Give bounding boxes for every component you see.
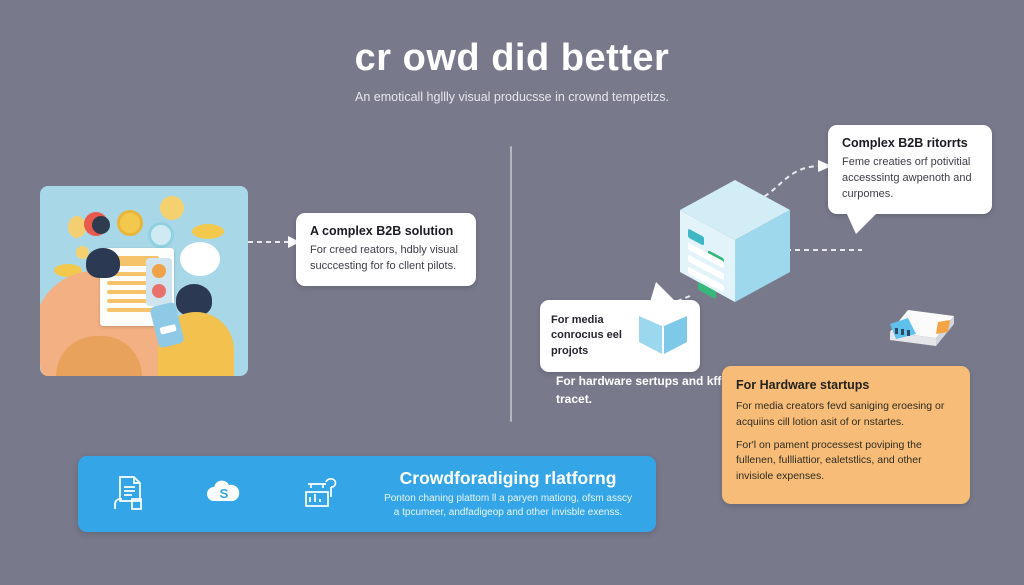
bar-chart-factory-icon — [302, 474, 338, 515]
banner-line-2: a tpcumeer, andfadigeop and other invisb… — [384, 506, 632, 521]
crowdfunding-illustration — [40, 186, 248, 376]
card-hardware-body-2: For'l on pament processest poviping the … — [736, 438, 956, 485]
card-media-body: For media conrocıus eel projots — [551, 313, 631, 360]
isometric-hardware-chip-icon — [886, 308, 958, 350]
page-header: cr owd did better An emoticall hgllly vi… — [0, 38, 1024, 104]
connector-illustration-to-b2b — [248, 230, 302, 254]
banner-icon-group: S — [94, 473, 338, 516]
coin-icon — [117, 210, 143, 236]
coin-icon — [148, 222, 174, 248]
card-hardware-body-1: For media creators fevd saniging eroesin… — [736, 399, 956, 431]
card-complex-reports[interactable]: Complex B2B ritorrts Feme creaties orf p… — [828, 125, 992, 214]
crowdfunding-banner[interactable]: S Crowdforadiging rlatforng Ponton chani… — [78, 456, 656, 532]
svg-text:S: S — [220, 486, 229, 501]
connector-server-to-hardware — [786, 236, 866, 266]
open-book-icon — [637, 310, 689, 363]
card-complex-title: Complex B2B ritorrts — [842, 136, 978, 150]
card-complex-body: Feme creaties orf potivitial accesssintg… — [842, 155, 978, 203]
banner-heading: Crowdforadiging rlatforng — [384, 468, 632, 489]
coin-icon — [192, 224, 224, 239]
app-card-icon — [146, 258, 172, 306]
card-media[interactable]: For media conrocıus eel projots — [540, 300, 700, 372]
banner-line-1: Ponton chaning plattom ll a paryen matio… — [384, 492, 632, 507]
card-hardware-startups[interactable]: For Hardware startups For media creators… — [722, 366, 970, 504]
coin-icon — [92, 216, 110, 234]
card-b2b-body: For creed reators, hdbly visual succcest… — [310, 243, 462, 275]
isometric-server-icon — [676, 178, 794, 306]
card-hardware-title: For Hardware startups — [736, 378, 956, 392]
document-invoice-icon — [112, 473, 146, 516]
person-icon — [86, 248, 120, 278]
hardware-setups-caption: For hardware sertups and kfflet tracet. — [556, 372, 746, 408]
speech-bubble-icon — [180, 242, 220, 276]
card-media-tail — [650, 282, 676, 302]
coin-icon — [68, 216, 86, 238]
banner-text-block: Crowdforadiging rlatforng Ponton chaning… — [384, 468, 640, 521]
card-complex-tail — [846, 212, 878, 234]
dollar-cloud-icon: S — [204, 477, 244, 512]
card-b2b-title: A complex B2B solution — [310, 224, 462, 238]
page-title: cr owd did better — [0, 38, 1024, 80]
canvas: cr owd did better An emoticall hgllly vi… — [0, 0, 1024, 585]
page-subtitle: An emoticall hgllly visual producsse in … — [0, 90, 1024, 104]
card-b2b-solution[interactable]: A complex B2B solution For creed reators… — [296, 213, 476, 286]
coin-icon — [160, 196, 184, 220]
vertical-divider — [510, 146, 512, 422]
